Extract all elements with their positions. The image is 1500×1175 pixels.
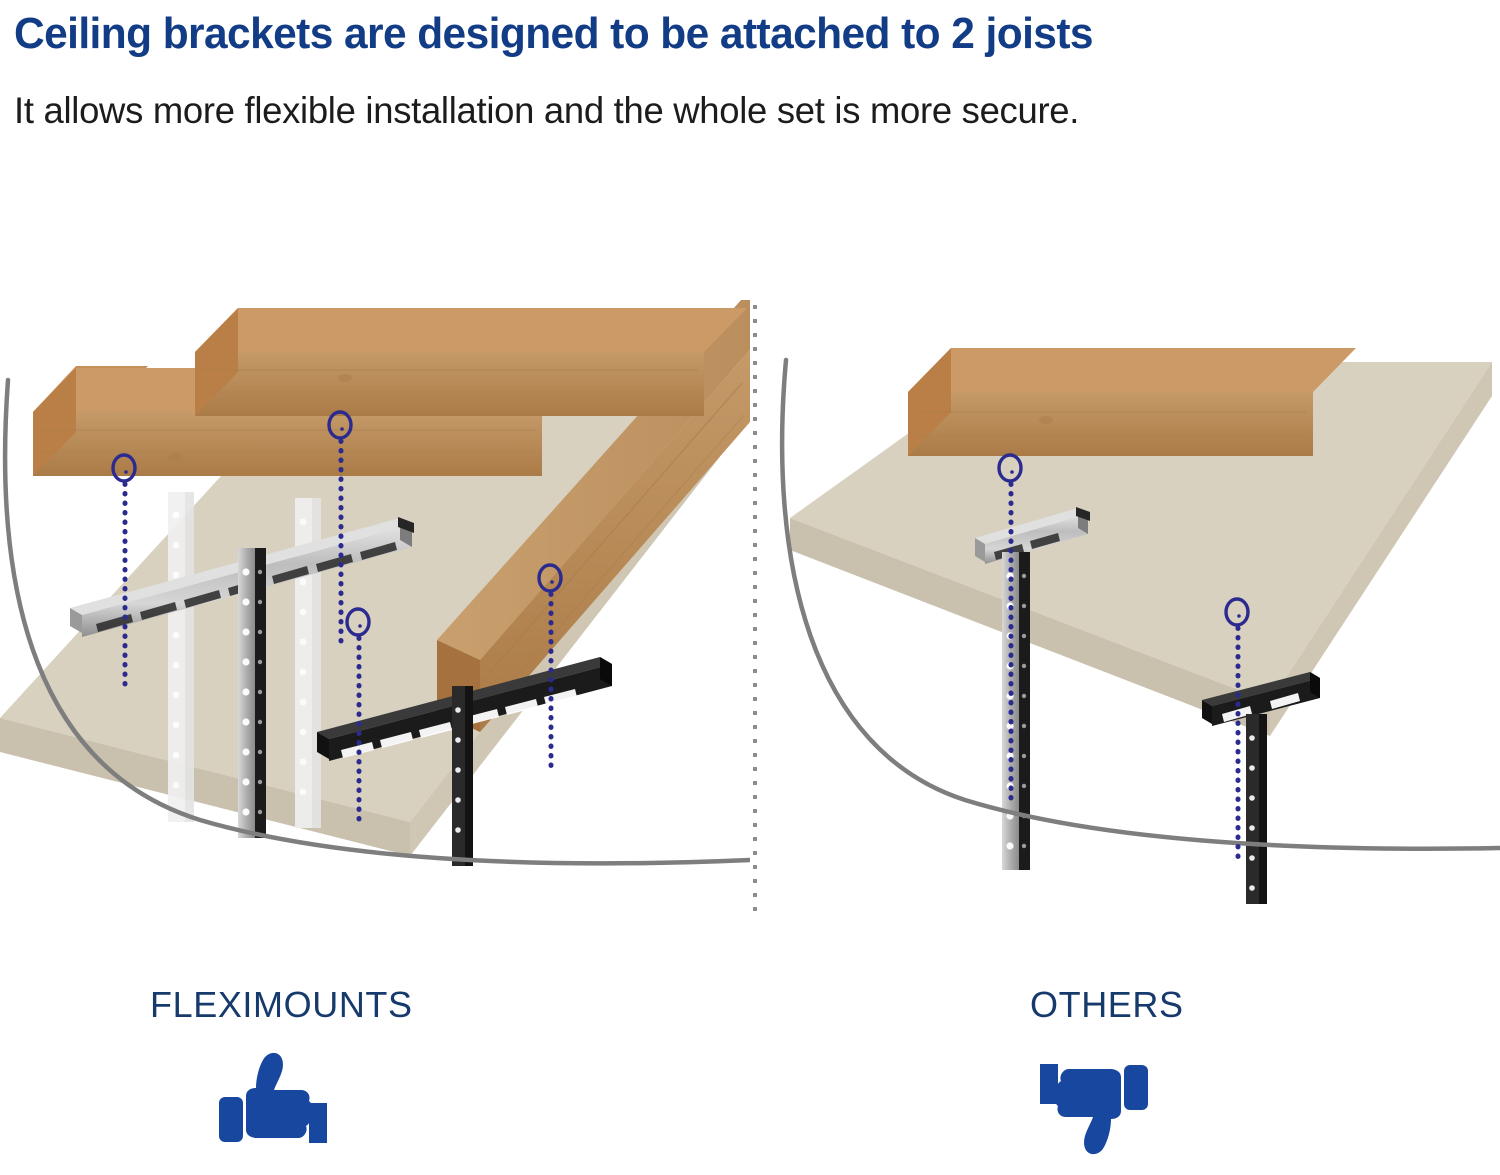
brand-label-others: OTHERS [1030,985,1184,1025]
page-title: Ceiling brackets are designed to be atta… [14,8,1433,60]
joist-B [195,308,747,416]
others-illustration [750,300,1500,940]
page-subtitle: It allows more flexible installation and… [14,88,1462,134]
main-post [238,548,266,838]
black-post [1246,714,1267,904]
brand-label-fleximounts: FLEXIMOUNTS [150,985,413,1025]
thumbs-up-icon [215,1050,327,1157]
silver-post [1002,552,1030,870]
thumbs-down-icon [1040,1055,1152,1162]
fleximounts-illustration [0,300,750,940]
infographic-page: Ceiling brackets are designed to be atta… [0,0,1500,1175]
